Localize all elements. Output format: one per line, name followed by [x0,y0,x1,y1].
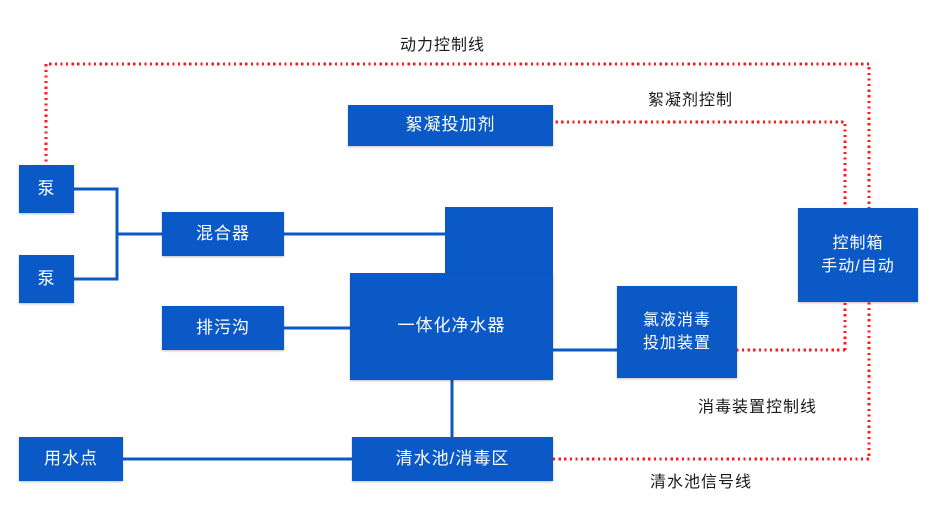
node-flocculant-doser-label: 絮凝投加剂 [406,113,496,138]
label-disinfect-control-line: 消毒装置控制线 [698,393,817,417]
node-chlorine-dosing-device-line-2: 投加装置 [643,332,711,355]
node-water-use-point[interactable]: 用水点 [19,437,123,481]
node-control-box-line-1: 控制箱 [832,232,883,255]
node-mixer[interactable]: 混合器 [162,212,284,256]
node-pump-1[interactable]: 泵 [19,165,74,213]
node-drain-ditch[interactable]: 排污沟 [162,306,284,350]
node-integrated-purifier-arm[interactable] [445,207,553,277]
node-pump-2-label: 泵 [38,267,56,292]
node-integrated-purifier-label: 一体化净水器 [398,314,506,339]
label-flocculant-control-line: 絮凝剂控制 [648,86,733,110]
node-chlorine-dosing-device[interactable]: 氯液消毒 投加装置 [617,286,737,378]
node-control-box[interactable]: 控制箱 手动/自动 [798,208,918,302]
node-water-use-point-label: 用水点 [44,447,98,472]
node-mixer-label: 混合器 [196,222,250,247]
node-clear-well-disinfection-zone[interactable]: 清水池/消毒区 [352,437,553,481]
node-pump-2[interactable]: 泵 [19,255,74,303]
diagram-canvas: 泵 泵 混合器 排污沟 絮凝投加剂 一体化净水器 氯液消毒 投加装置 清水池/消… [0,0,940,524]
node-flocculant-doser[interactable]: 絮凝投加剂 [348,105,553,146]
node-integrated-purifier[interactable]: 一体化净水器 [350,273,553,380]
node-chlorine-dosing-device-line-1: 氯液消毒 [643,309,711,332]
node-pump-1-label: 泵 [38,177,56,202]
node-drain-ditch-label: 排污沟 [196,316,250,341]
label-clearwell-signal-line: 清水池信号线 [650,468,752,492]
node-control-box-line-2: 手动/自动 [821,255,894,278]
node-clear-well-disinfection-zone-label: 清水池/消毒区 [396,447,510,472]
label-power-control-line: 动力控制线 [400,31,485,55]
